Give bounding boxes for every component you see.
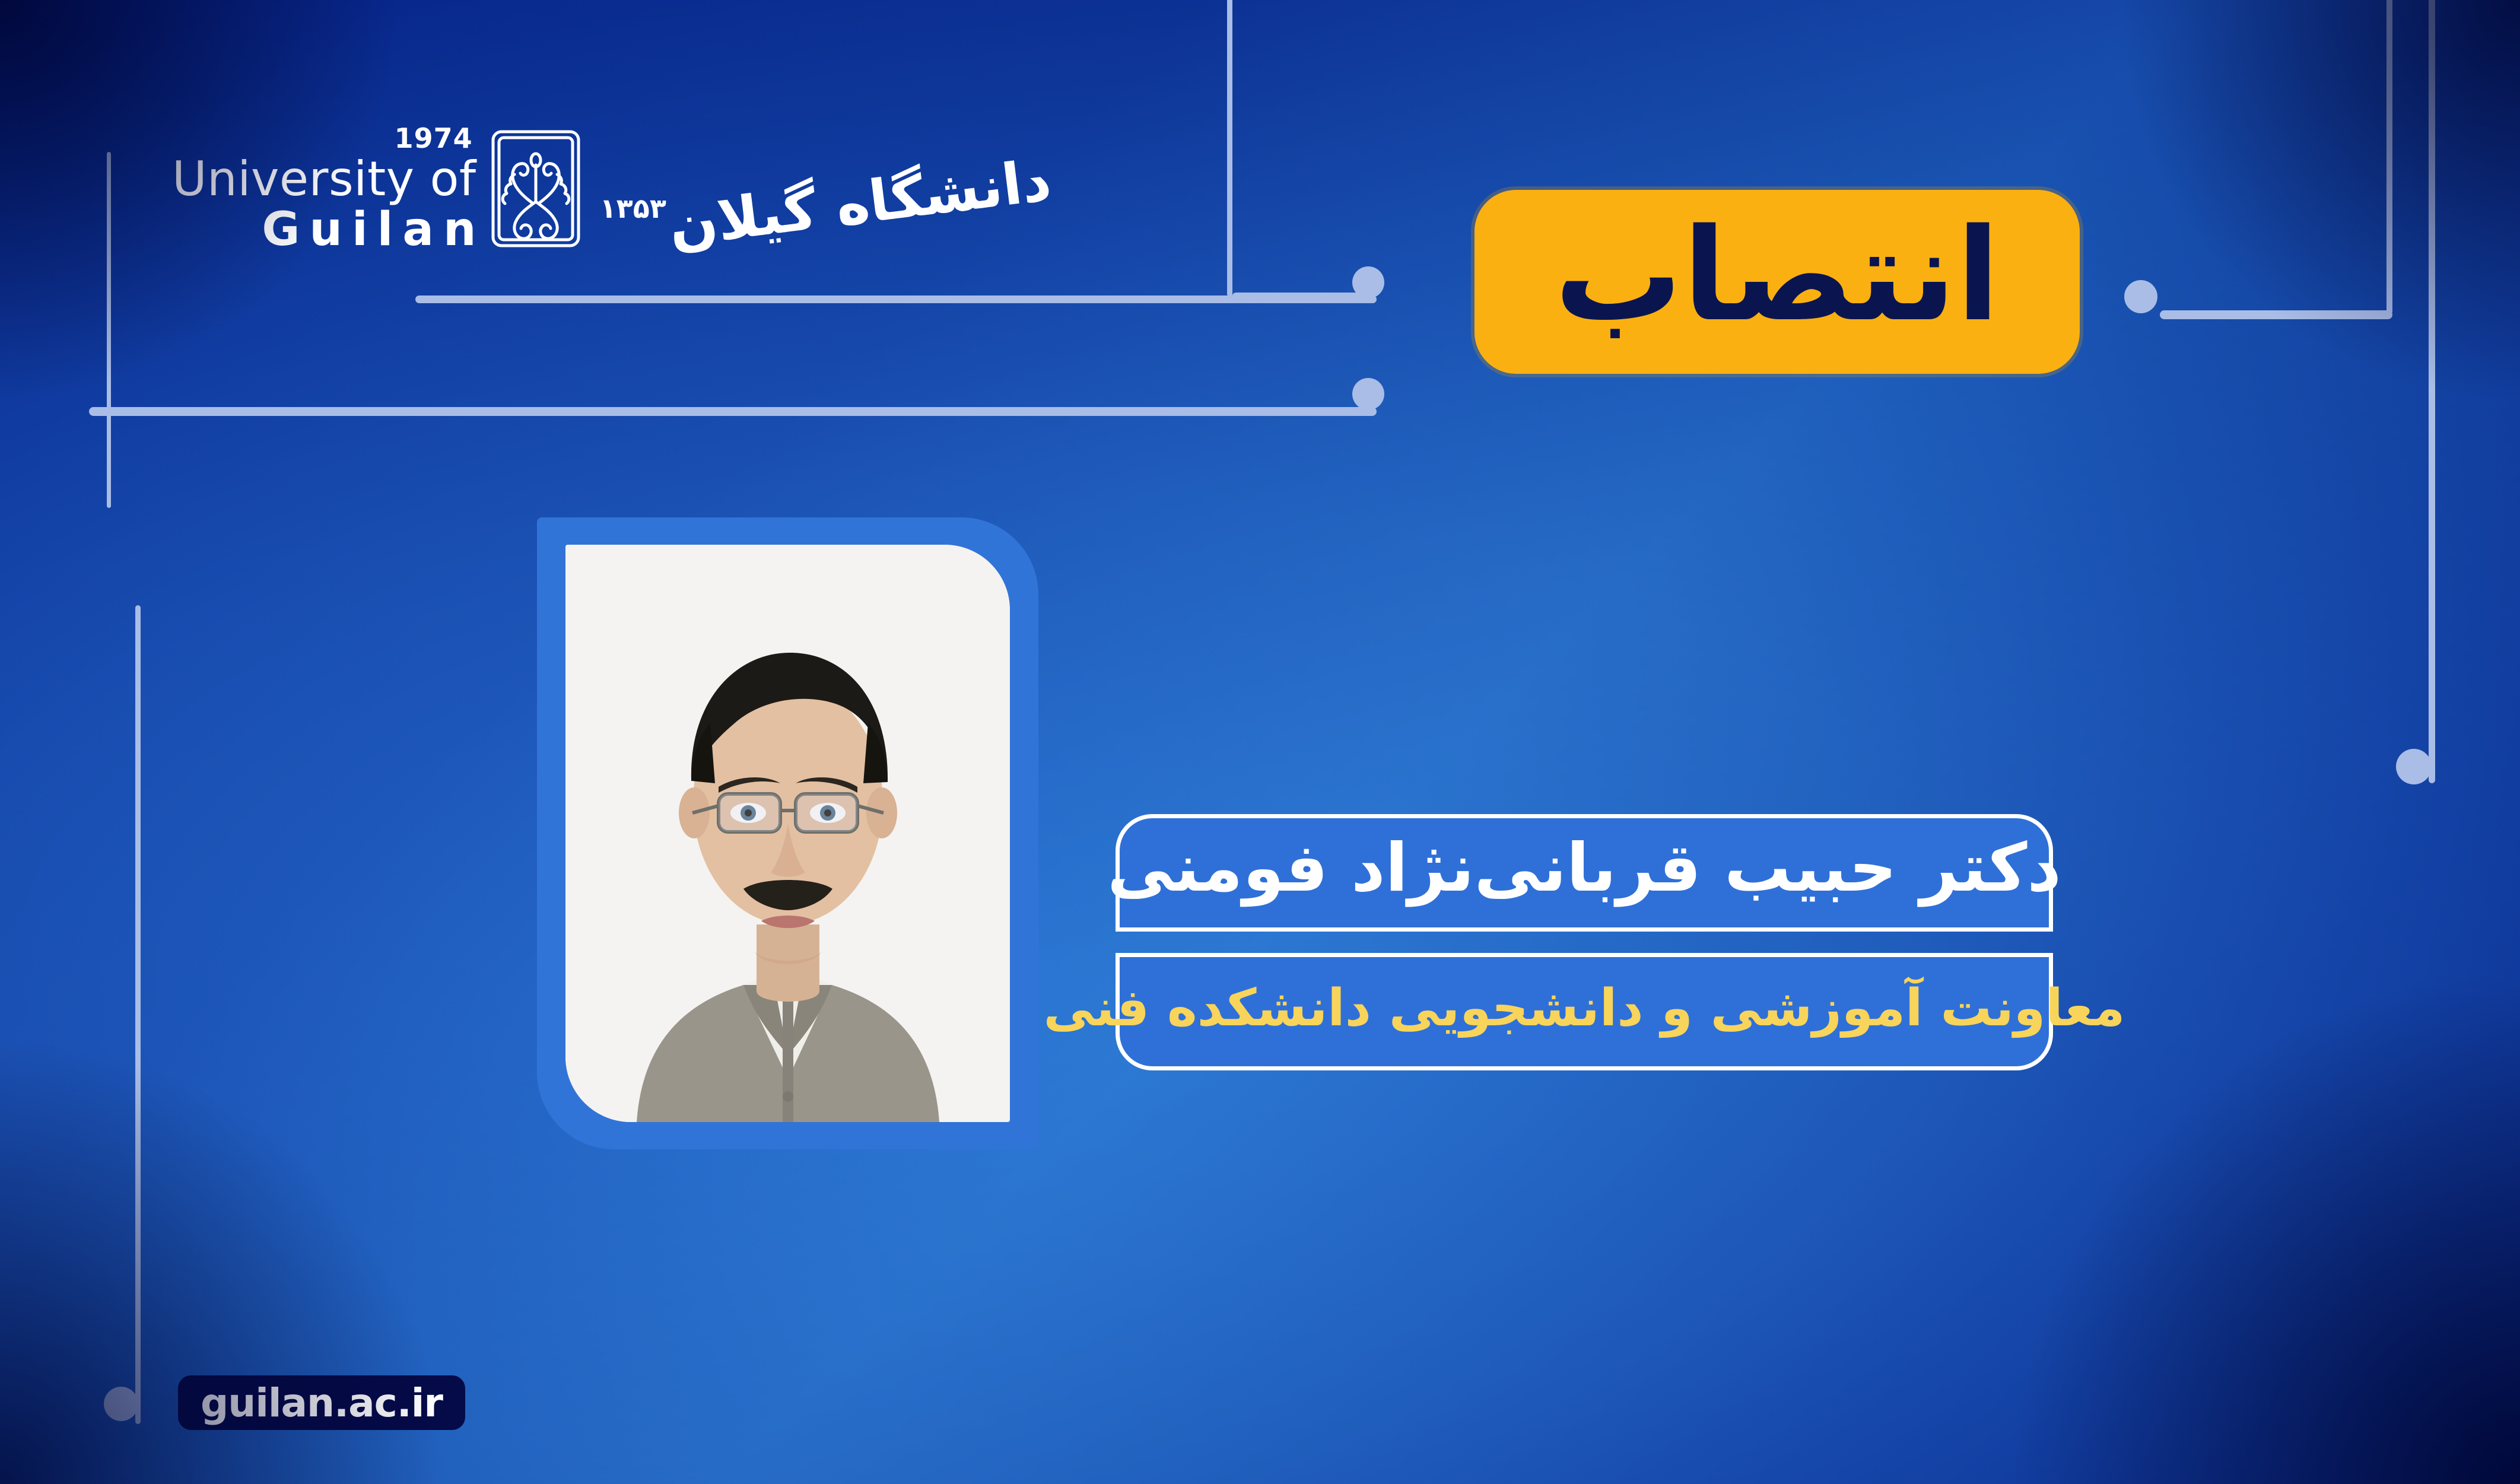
deco-vline-right-inner <box>2429 0 2435 783</box>
appointment-poster: 1974 University of Guilan دانشگاه گیلان … <box>0 0 2520 1484</box>
deco-hline-right-top <box>2160 310 2392 319</box>
logo-founding-year-en: 1974 <box>395 125 473 152</box>
logo-university-name-fa: دانشگاه گیلان <box>666 153 1054 253</box>
deco-hline-mid-top <box>1232 293 1362 301</box>
logo-founding-year-fa: ۱۳۵۳ <box>600 192 666 224</box>
portrait-photo <box>565 545 1010 1122</box>
person-position: معاونت آموزشی و دانشجویی دانشکده فنی <box>1044 983 2125 1034</box>
deco-dot-logo-row <box>1352 266 1384 298</box>
guilan-university-emblem-icon <box>491 129 581 248</box>
deco-hline-upper-left <box>89 407 1377 416</box>
logo-english-text: 1974 University of Guilan <box>172 125 476 253</box>
person-name: دکتر حبیب قربانی‌نژاد فومنی <box>1107 835 2061 901</box>
person-position-banner: معاونت آموزشی و دانشجویی دانشکده فنی <box>1116 953 2053 1070</box>
deco-dot-left-bottom <box>104 1387 138 1421</box>
deco-vline-left-top <box>107 152 111 508</box>
deco-vline-mid-top <box>1227 0 1232 297</box>
logo-university-word: University of <box>172 155 476 203</box>
appointment-badge: انتصاب <box>1474 190 2080 374</box>
logo-persian-block: دانشگاه گیلان ۱۳۵۳ <box>596 153 1051 224</box>
website-pill[interactable]: guilan.ac.ir <box>178 1375 465 1430</box>
deco-vline-right-outer <box>2386 0 2392 314</box>
website-url: guilan.ac.ir <box>201 1380 443 1426</box>
portrait-frame <box>537 517 1038 1149</box>
person-name-banner: دکتر حبیب قربانی‌نژاد فومنی <box>1116 814 2053 932</box>
logo-guilan-word: Guilan <box>262 206 485 253</box>
university-logo: 1974 University of Guilan دانشگاه گیلان … <box>172 125 1051 253</box>
deco-dot-upper-left <box>1352 378 1384 410</box>
deco-vline-left-bottom <box>135 605 141 1424</box>
deco-dot-right-top <box>2124 280 2157 313</box>
deco-dot-right-mid <box>2396 749 2432 784</box>
appointment-badge-label: انتصاب <box>1555 211 2000 339</box>
